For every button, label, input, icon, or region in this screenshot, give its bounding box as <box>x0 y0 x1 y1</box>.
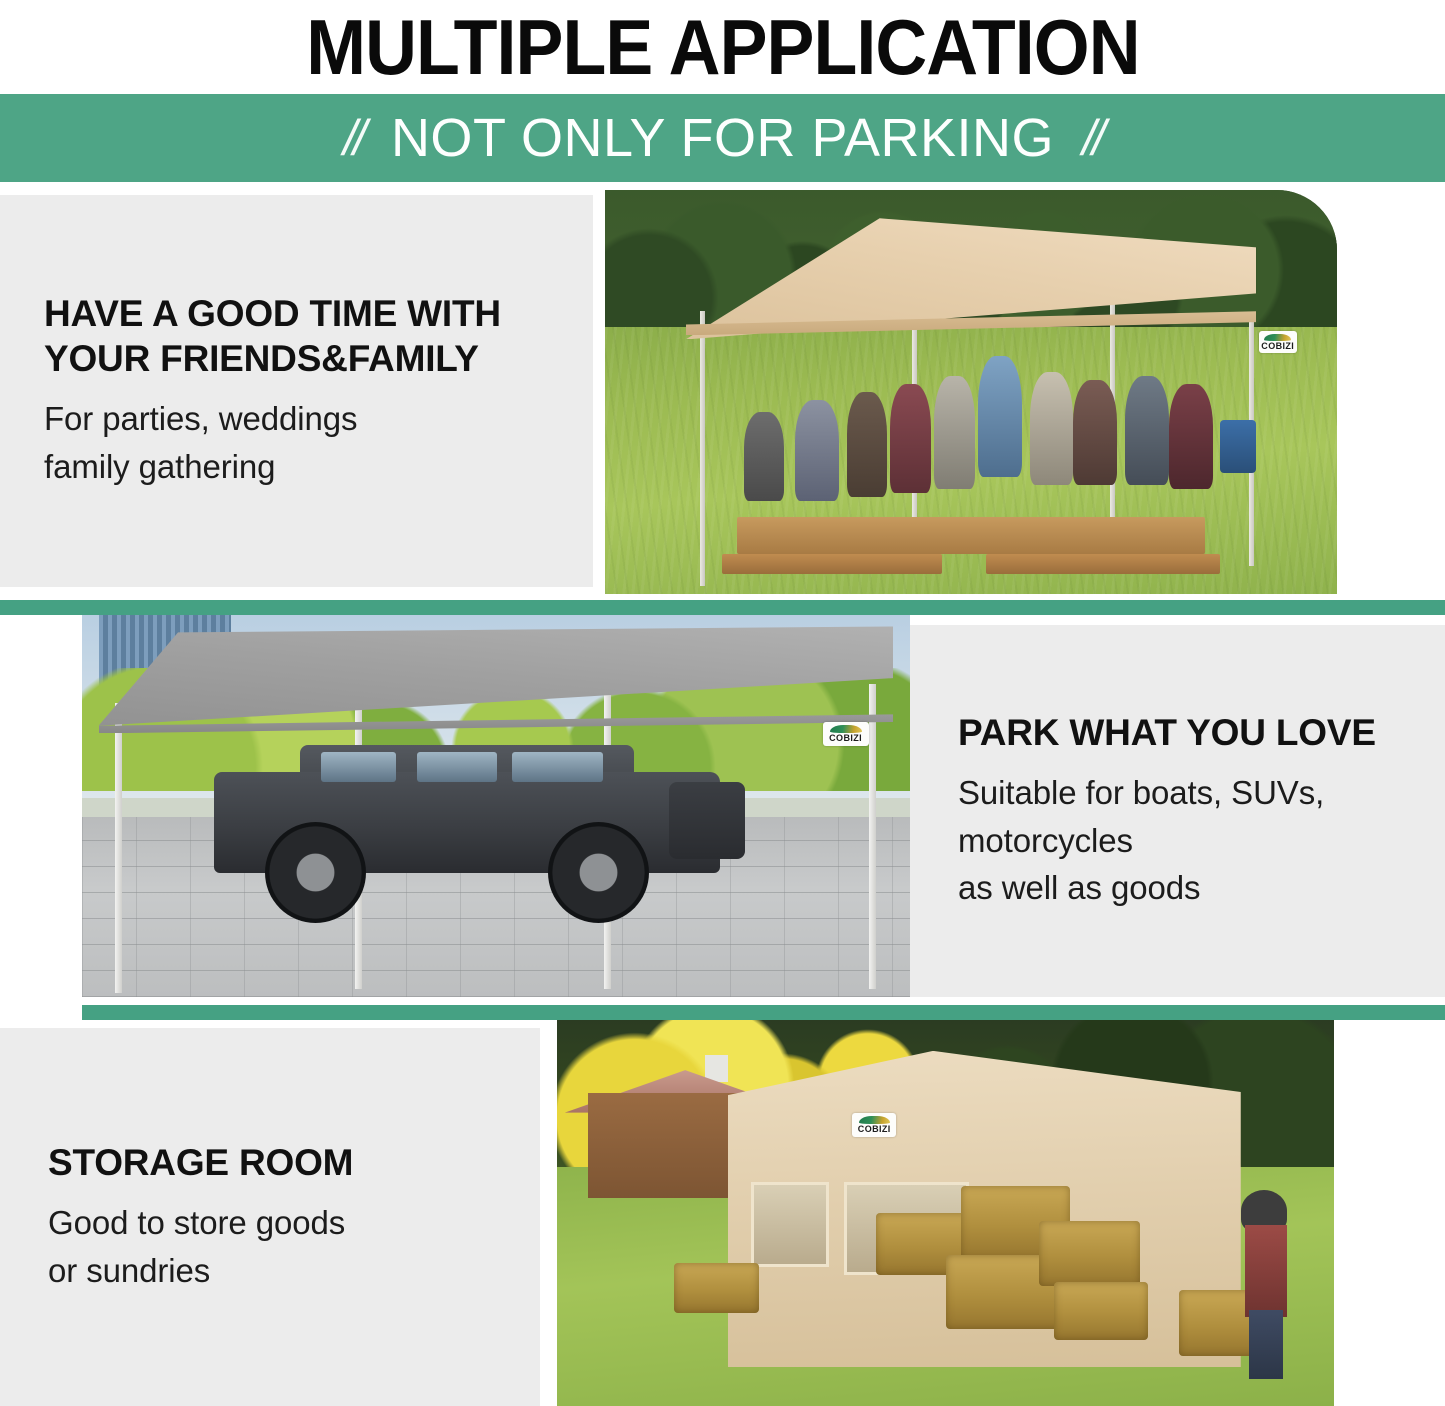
photo2-suv-wheel <box>548 822 649 923</box>
cobizi-brand-text: COBIZI <box>1261 342 1294 351</box>
photo3-hay-bale <box>1039 1221 1140 1287</box>
slash-left-icon: // <box>343 113 363 163</box>
storage-room-text-panel: STORAGE ROOM Good to store goods or sund… <box>0 1028 540 1406</box>
photo1-bench <box>722 554 942 574</box>
photo-park-what-you-love: COBIZI <box>82 615 910 997</box>
photo2-canopy-leg <box>115 703 122 993</box>
cobizi-logo-badge: COBIZI <box>1259 331 1297 353</box>
storage-heading: STORAGE ROOM <box>48 1140 540 1185</box>
photo1-person <box>744 412 784 501</box>
photo3-farmer-legs <box>1249 1310 1284 1379</box>
photo1-canopy-leg <box>700 311 705 586</box>
photo-friends-family: COBIZI <box>605 190 1337 594</box>
photo2-suv-window <box>512 752 603 782</box>
slash-right-icon: // <box>1082 113 1102 163</box>
cobizi-swoosh-icon <box>859 1116 890 1124</box>
park-what-you-love-text-panel: PARK WHAT YOU LOVE Suitable for boats, S… <box>910 625 1445 997</box>
section-divider-2 <box>82 1005 1445 1020</box>
photo1-person <box>934 376 974 489</box>
photo1-person <box>1073 380 1117 485</box>
photo2-suv-window <box>321 752 397 782</box>
cobizi-logo-badge: COBIZI <box>852 1113 896 1137</box>
photo3-hay-bale <box>674 1263 759 1313</box>
cobizi-logo-badge: COBIZI <box>823 722 869 746</box>
photo1-person <box>1125 376 1169 485</box>
photo3-chimney <box>705 1055 728 1082</box>
page-title: MULTIPLE APPLICATION <box>306 8 1139 86</box>
photo2-suv-window <box>417 752 498 782</box>
photo1-person <box>1030 372 1074 485</box>
cobizi-brand-text: COBIZI <box>829 734 862 743</box>
storage-body-line2: or sundries <box>48 1247 540 1295</box>
photo1-bench <box>986 554 1220 574</box>
friends-family-heading: HAVE A GOOD TIME WITH YOUR FRIENDS&FAMIL… <box>44 291 593 381</box>
cobizi-brand-text: COBIZI <box>858 1125 891 1134</box>
section-divider-1 <box>0 600 1445 615</box>
photo2-suv <box>214 745 719 913</box>
photo3-garage-window <box>751 1182 829 1267</box>
subtitle-banner: // NOT ONLY FOR PARKING // <box>0 94 1445 182</box>
photo1-person <box>1169 384 1213 489</box>
storage-body-line1: Good to store goods <box>48 1199 540 1247</box>
photo1-person <box>795 400 839 501</box>
friends-family-body-line1: For parties, weddings <box>44 395 593 443</box>
friends-family-heading-line1: HAVE A GOOD TIME WITH <box>44 293 501 334</box>
photo1-person <box>890 384 930 493</box>
friends-family-heading-line2: YOUR FRIENDS&FAMILY <box>44 338 479 379</box>
friends-family-body-line2: family gathering <box>44 443 593 491</box>
photo1-chair <box>1220 420 1257 473</box>
photo1-picnic-table <box>737 517 1205 553</box>
photo3-farmer-torso <box>1245 1225 1288 1318</box>
photo1-person <box>978 356 1022 477</box>
section-storage-room: STORAGE ROOM Good to store goods or sund… <box>0 1020 1445 1406</box>
photo2-canopy-leg <box>869 684 876 990</box>
page-title-bar: MULTIPLE APPLICATION <box>0 0 1445 94</box>
photo1-person <box>847 392 887 497</box>
friends-family-text-panel: HAVE A GOOD TIME WITH YOUR FRIENDS&FAMIL… <box>0 195 593 587</box>
cobizi-swoosh-icon <box>1264 334 1291 341</box>
park-body-line2: motorcycles <box>958 817 1445 865</box>
photo2-suv-wheel <box>265 822 366 923</box>
cobizi-swoosh-icon <box>830 725 862 733</box>
section-park-what-you-love: COBIZI PARK WHAT YOU LOVE Suitable for b… <box>0 615 1445 1005</box>
infographic-page: MULTIPLE APPLICATION // NOT ONLY FOR PAR… <box>0 0 1445 1406</box>
photo3-hay-bale <box>1054 1282 1147 1340</box>
park-body-line1: Suitable for boats, SUVs, <box>958 769 1445 817</box>
park-heading: PARK WHAT YOU LOVE <box>958 710 1445 755</box>
photo-storage-room: COBIZI <box>557 1020 1334 1406</box>
section-friends-family: HAVE A GOOD TIME WITH YOUR FRIENDS&FAMIL… <box>0 182 1445 600</box>
page-subtitle: NOT ONLY FOR PARKING <box>391 111 1054 165</box>
park-body-line3: as well as goods <box>958 864 1445 912</box>
photo2-suv-spare-tire <box>669 782 745 859</box>
